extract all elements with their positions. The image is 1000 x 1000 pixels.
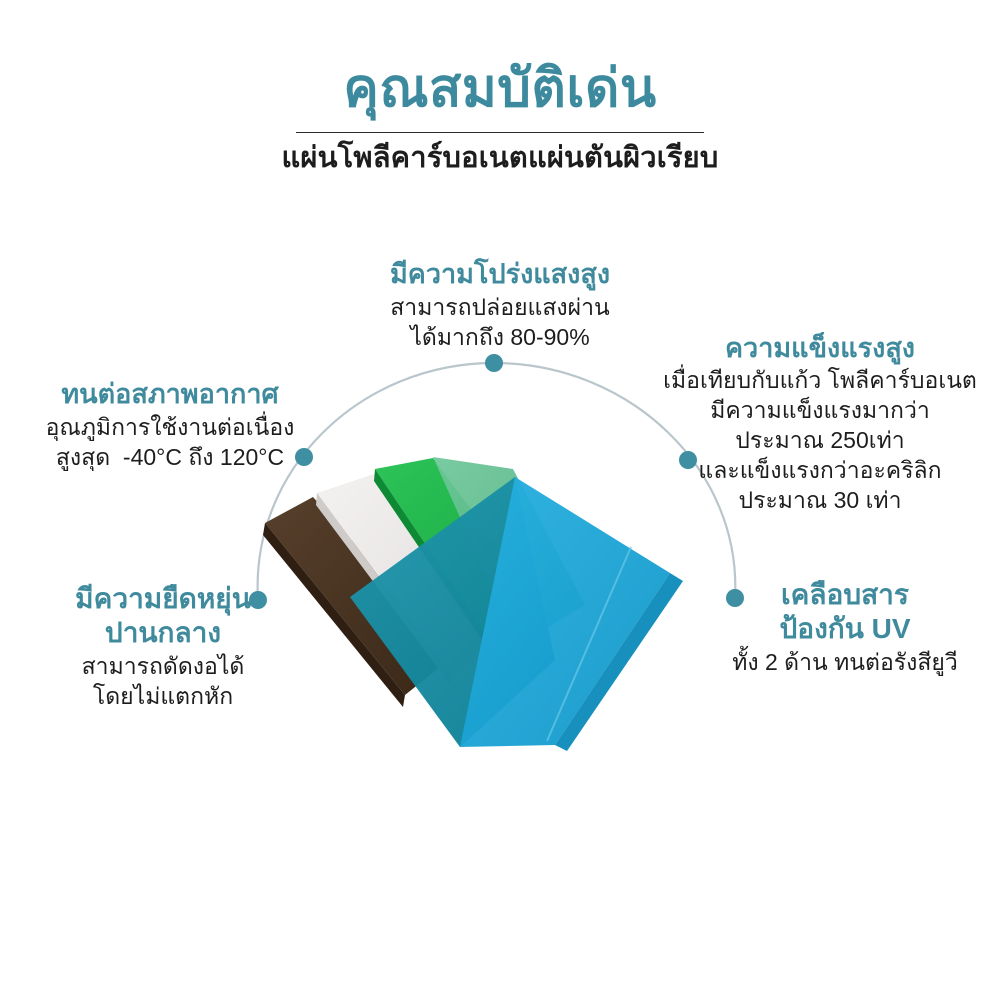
feature-strength: ความแข็งแรงสูง เมื่อเทียบกับแก้ว โพลีคาร… (640, 332, 1000, 515)
feature-uv-coating-line-1: ทั้ง 2 ด้าน ทนต่อรังสียูวี (690, 648, 1000, 678)
feature-weather-resistance-line-2: สูงสุด -40°C ถึง 120°C (10, 443, 330, 473)
feature-flexibility: มีความยืดหยุ่น ปานกลาง สามารถดัดงอได้ โด… (18, 582, 308, 712)
feature-strength-line-3: ประมาณ 250เท่า (640, 426, 1000, 456)
feature-uv-coating-heading: เคลือบสาร ป้องกัน UV (690, 578, 1000, 646)
feature-flexibility-line-1: สามารถดัดงอได้ (18, 652, 308, 682)
page-subtitle: แผ่นโพลีคาร์บอเนตแผ่นตันผิวเรียบ (0, 140, 1000, 176)
feature-weather-resistance-line-1: อุณภูมิการใช้งานต่อเนื่อง (10, 413, 330, 443)
header: คุณสมบัติเด่น แผ่นโพลีคาร์บอเนตแผ่นตันผิ… (0, 58, 1000, 176)
feature-strength-heading: ความแข็งแรงสูง (640, 332, 1000, 365)
feature-strength-line-1: เมื่อเทียบกับแก้ว โพลีคาร์บอเนต (640, 366, 1000, 396)
feature-flexibility-heading: มีความยืดหยุ่น ปานกลาง (18, 582, 308, 650)
feature-weather-resistance-heading: ทนต่อสภาพอากาศ (10, 378, 330, 411)
feature-weather-resistance: ทนต่อสภาพอากาศ อุณภูมิการใช้งานต่อเนื่อง… (10, 378, 330, 473)
feature-strength-line-4: และแข็งแรงกว่าอะคริลิก (640, 456, 1000, 486)
feature-uv-coating: เคลือบสาร ป้องกัน UV ทั้ง 2 ด้าน ทนต่อรั… (690, 578, 1000, 678)
feature-weather-resistance-body: อุณภูมิการใช้งานต่อเนื่อง สูงสุด -40°C ถ… (10, 413, 330, 473)
feature-uv-coating-body: ทั้ง 2 ด้าน ทนต่อรังสียูวี (690, 648, 1000, 678)
page-title: คุณสมบัติเด่น (0, 58, 1000, 121)
feature-flexibility-body: สามารถดัดงอได้ โดยไม่แตกหัก (18, 652, 308, 712)
feature-transparency-heading: มีความโปร่งแสงสูง (300, 258, 700, 291)
infographic-page: คุณสมบัติเด่น แผ่นโพลีคาร์บอเนตแผ่นตันผิ… (0, 0, 1000, 1000)
feature-transparency-line-1: สามารถปล่อยแสงผ่าน (300, 293, 700, 323)
feature-flexibility-line-2: โดยไม่แตกหัก (18, 682, 308, 712)
dot-transparency (485, 354, 503, 372)
title-divider (296, 132, 704, 133)
feature-strength-line-2: มีความแข็งแรงมากว่า (640, 396, 1000, 426)
feature-strength-line-5: ประมาณ 30 เท่า (640, 486, 1000, 516)
feature-strength-body: เมื่อเทียบกับแก้ว โพลีคาร์บอเนต มีความแข… (640, 366, 1000, 515)
